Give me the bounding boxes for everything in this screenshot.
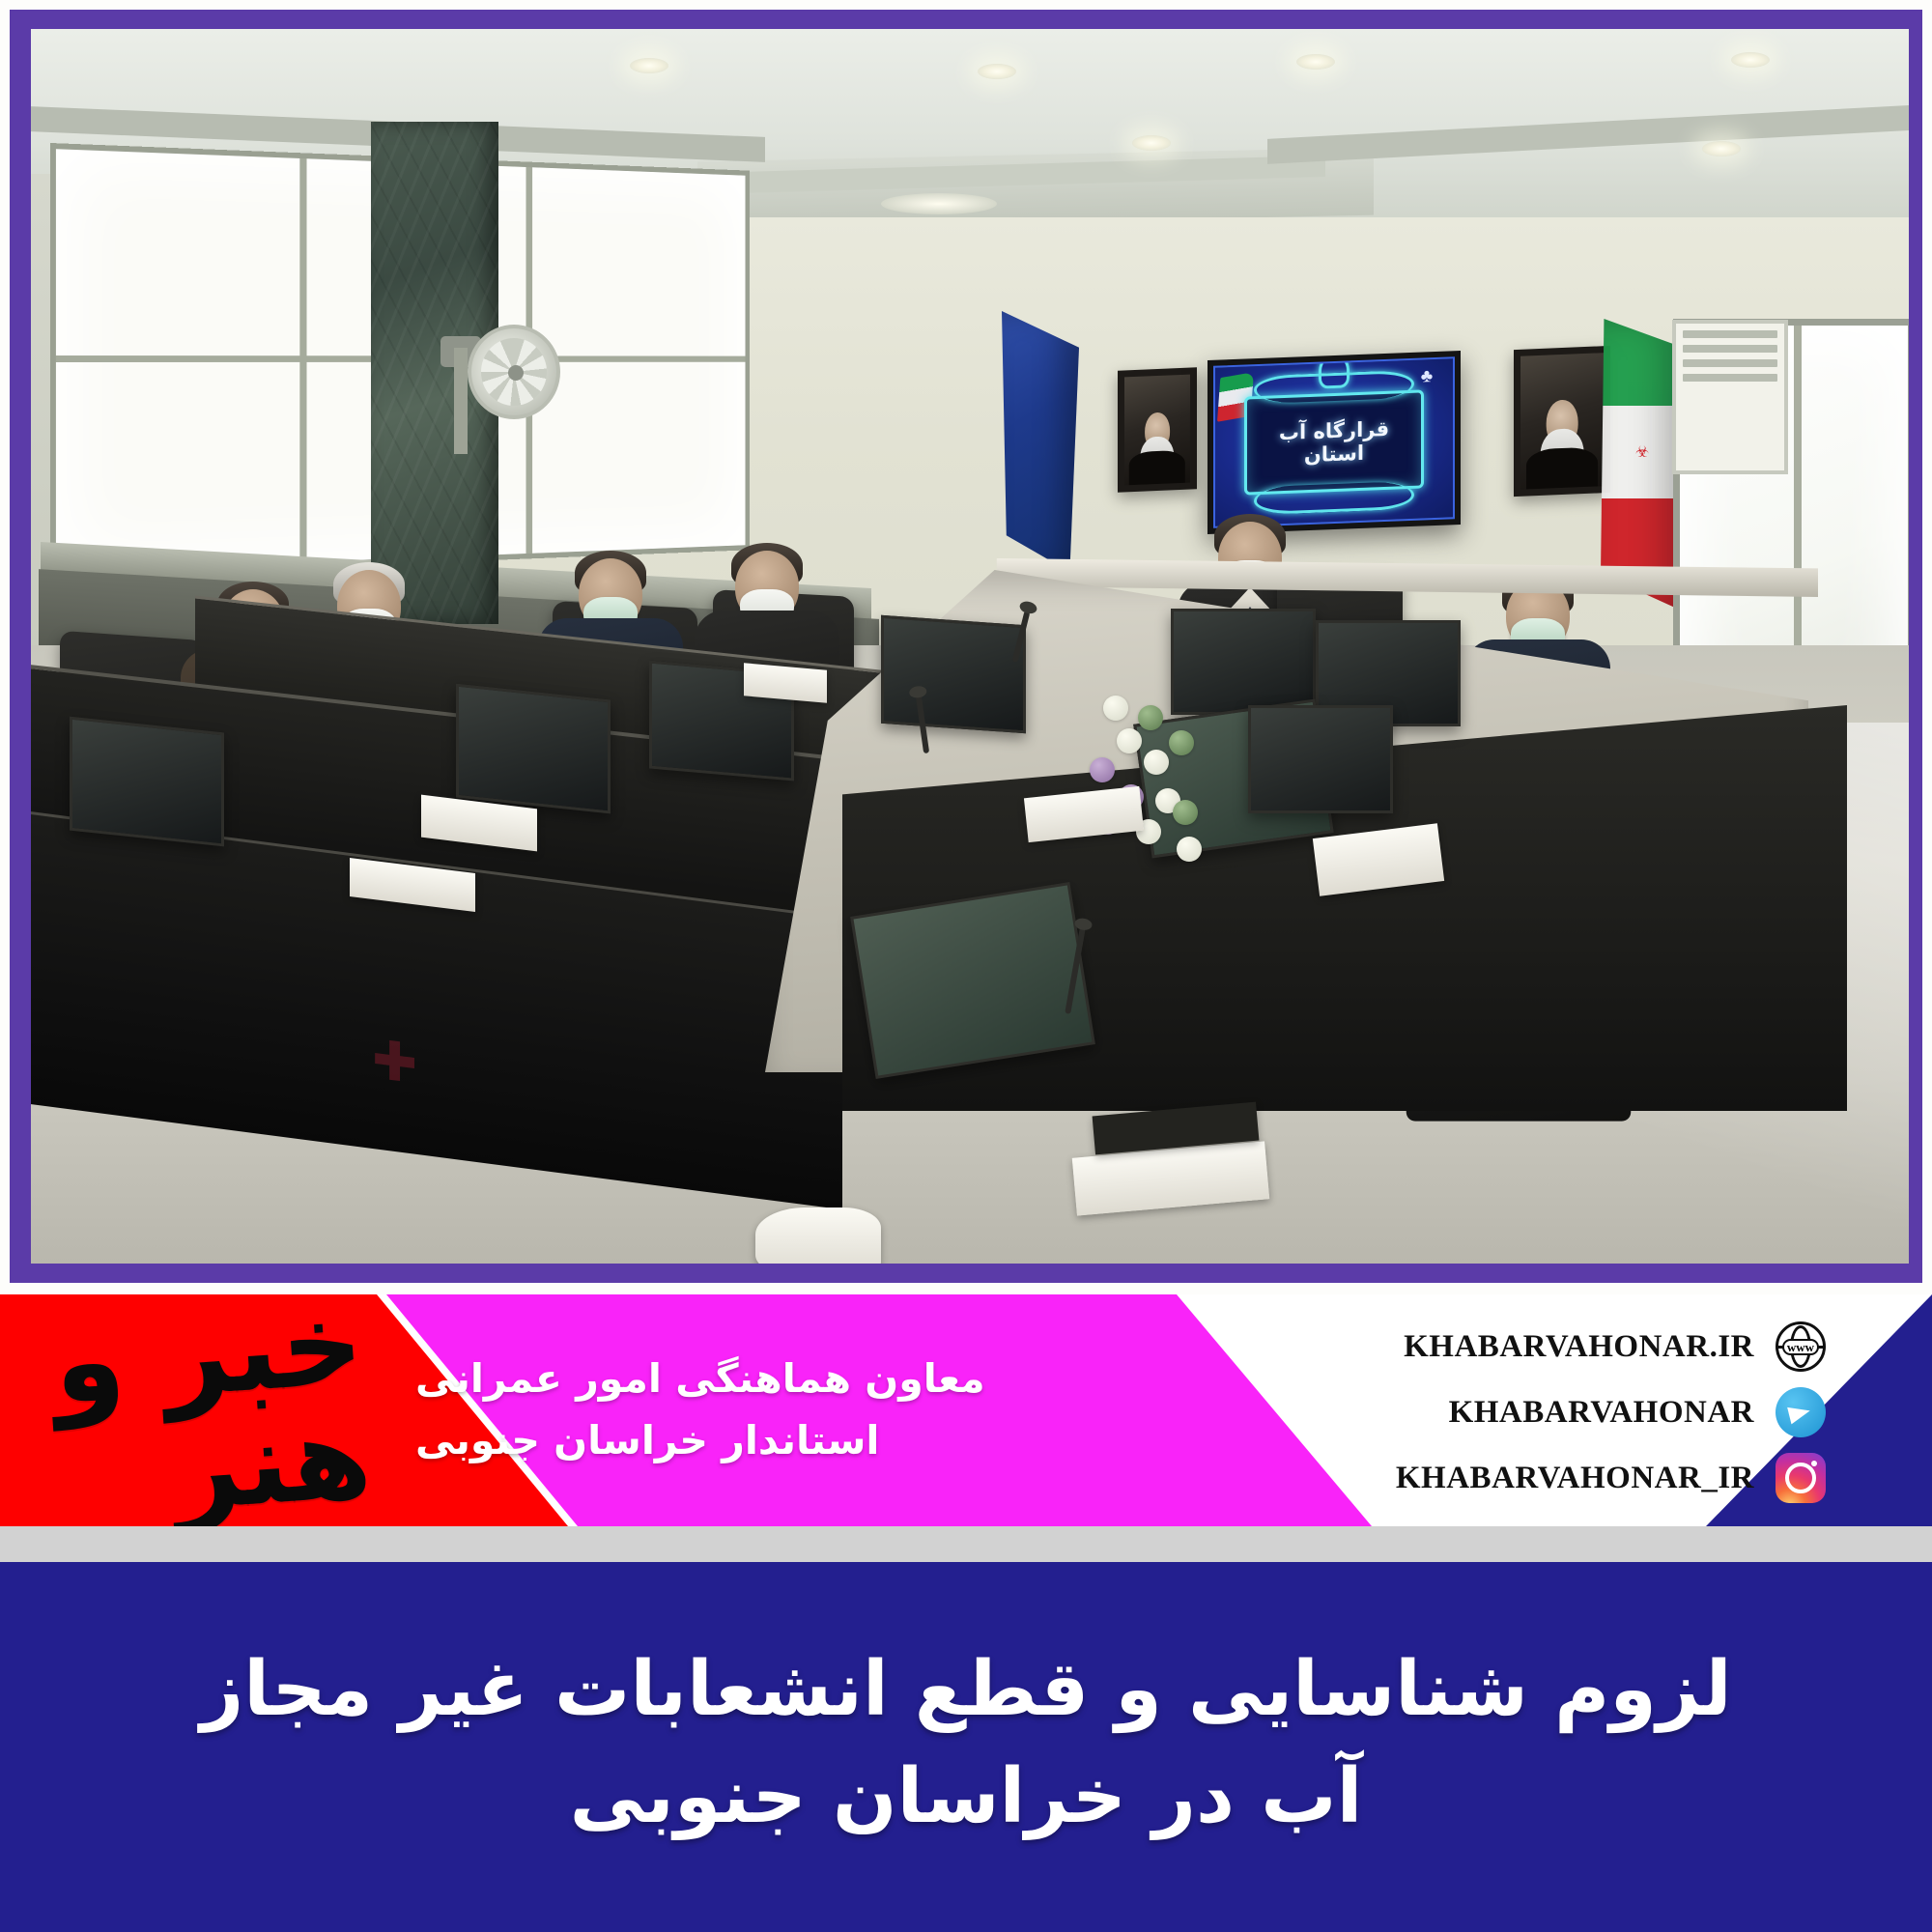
branding-banner: خبر و هنر معاون هماهنگی امور عمرانی استا… bbox=[0, 1294, 1932, 1526]
social-handles: KHABARVAHONAR.IR www KHABARVAHONAR KHABA… bbox=[1372, 1318, 1826, 1507]
telegram-label: KHABARVAHONAR bbox=[1449, 1395, 1754, 1431]
monitor bbox=[881, 615, 1026, 733]
caption-line-2: استاندار خراسان جنوبی bbox=[415, 1410, 879, 1472]
monitor-foreground bbox=[850, 882, 1095, 1079]
wall-fan-icon bbox=[468, 325, 560, 419]
handle-instagram[interactable]: KHABARVAHONAR_IR bbox=[1372, 1449, 1826, 1507]
meeting-photo: ♣ قرارگاه آب استان شرکت آب و فاضلاب خراس… bbox=[31, 29, 1909, 1264]
instagram-icon[interactable] bbox=[1776, 1453, 1826, 1503]
portrait-frame bbox=[1118, 367, 1197, 492]
wall-notice-board bbox=[1672, 320, 1788, 474]
ceiling-light bbox=[1132, 135, 1171, 151]
ceiling-light bbox=[978, 64, 1016, 79]
plastic-bag bbox=[755, 1207, 881, 1264]
ceiling-light bbox=[881, 193, 997, 214]
organization-flag: شرکت آب و فاضلاب خراسان جنوبی bbox=[1002, 311, 1079, 572]
flower-arrangement bbox=[1084, 696, 1209, 869]
photo-scene: ♣ قرارگاه آب استان شرکت آب و فاضلاب خراس… bbox=[31, 29, 1909, 1264]
ceiling-light bbox=[1702, 141, 1741, 156]
headline-line-2: آب در خراسان جنوبی bbox=[174, 1744, 1758, 1851]
caption-line-1: معاون هماهنگی امور عمرانی bbox=[415, 1349, 985, 1410]
headline-block: لزوم شناسایی و قطع انشعابات غیر مجاز آب … bbox=[0, 1562, 1932, 1932]
website-label: KHABARVAHONAR.IR bbox=[1404, 1329, 1754, 1365]
headline-line-1: لزوم شناسایی و قطع انشعابات غیر مجاز bbox=[174, 1636, 1758, 1744]
section-divider bbox=[0, 1526, 1932, 1562]
news-card: ♣ قرارگاه آب استان شرکت آب و فاضلاب خراس… bbox=[0, 0, 1932, 1932]
portrait-frame bbox=[1514, 346, 1610, 497]
ceiling-light bbox=[1731, 52, 1770, 68]
handle-telegram[interactable]: KHABARVAHONAR bbox=[1372, 1383, 1826, 1441]
table-logo: ✚ bbox=[350, 1030, 417, 1106]
fan-arm bbox=[454, 348, 468, 454]
headline-text: لزوم شناسایی و قطع انشعابات غیر مجاز آب … bbox=[174, 1636, 1758, 1859]
subject-caption: معاون هماهنگی امور عمرانی استاندار خراسا… bbox=[415, 1327, 1140, 1493]
ceiling-light bbox=[630, 58, 668, 73]
telegram-icon[interactable] bbox=[1776, 1387, 1826, 1437]
brand-logo[interactable]: خبر و هنر bbox=[33, 1304, 374, 1516]
globe-www-icon[interactable]: www bbox=[1776, 1321, 1826, 1372]
monitor bbox=[70, 717, 224, 847]
photo-frame: ♣ قرارگاه آب استان شرکت آب و فاضلاب خراس… bbox=[10, 10, 1922, 1283]
screen-title: قرارگاه آب استان bbox=[1247, 416, 1421, 469]
instagram-label: KHABARVAHONAR_IR bbox=[1396, 1461, 1754, 1496]
presentation-screen: ♣ قرارگاه آب استان bbox=[1207, 351, 1461, 534]
ceiling-light bbox=[1296, 54, 1335, 70]
monitor bbox=[456, 684, 611, 814]
monitor bbox=[1248, 705, 1393, 813]
handle-website[interactable]: KHABARVAHONAR.IR www bbox=[1372, 1318, 1826, 1376]
